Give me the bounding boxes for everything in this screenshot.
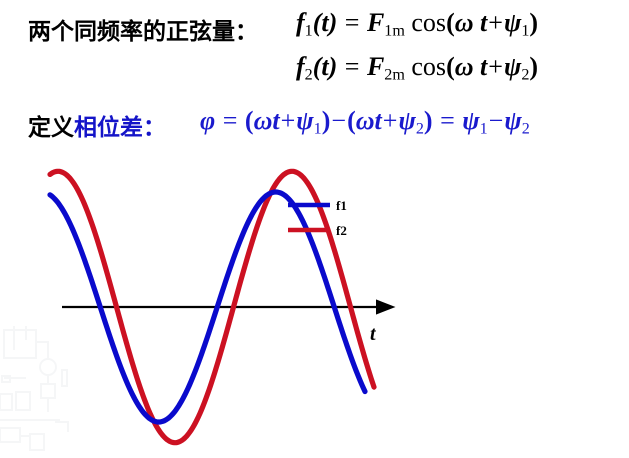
formula-f2-plus: + bbox=[487, 52, 504, 81]
formula-f2-open: ( bbox=[446, 52, 455, 81]
phase-minus-1: − bbox=[330, 106, 347, 135]
formula-f2-arg: (t) bbox=[313, 52, 338, 81]
formula-f1-f: f bbox=[296, 8, 305, 37]
chart-legend: f1 f2 bbox=[288, 198, 347, 238]
phase-plus-2: + bbox=[382, 106, 399, 135]
x-axis-label: t bbox=[370, 323, 377, 345]
phase-t-2: t bbox=[375, 106, 382, 135]
phase-psi-2: ψ bbox=[398, 106, 415, 135]
formula-f2: f2(t) = F2m cos(ω t+ψ2) bbox=[296, 52, 538, 85]
formula-f2-psi: ψ bbox=[504, 52, 521, 81]
phase-plus-1: + bbox=[280, 106, 297, 135]
formula-phase-difference: φ = (ωt+ψ1)−(ωt+ψ2) = ψ1−ψ2 bbox=[200, 106, 530, 139]
phase-omega-2: ω bbox=[356, 106, 375, 135]
formula-f1-psi: ψ bbox=[504, 8, 521, 37]
phase-eq-2: = bbox=[439, 106, 456, 135]
intro-label: 两个同频率的正弦量： bbox=[28, 12, 258, 46]
formula-f2-amp-sub: 2m bbox=[384, 67, 405, 84]
definition-prefix: 定义 bbox=[28, 115, 74, 141]
formula-f1-amp: F bbox=[367, 8, 384, 37]
phase-psi-2-sub: 2 bbox=[416, 121, 424, 138]
formula-f2-index: 2 bbox=[305, 67, 313, 84]
phase-result-psi-2-sub: 2 bbox=[522, 121, 530, 138]
legend-label-f2: f2 bbox=[336, 223, 347, 238]
phase-result-minus: − bbox=[488, 106, 505, 135]
formula-text-block: 两个同频率的正弦量： f1(t) = F1m cos(ω t+ψ1) f2(t)… bbox=[0, 0, 629, 160]
phase-close-2: ) bbox=[424, 106, 433, 135]
slide-canvas: 两个同频率的正弦量： f1(t) = F1m cos(ω t+ψ1) f2(t)… bbox=[0, 0, 629, 458]
formula-f1: f1(t) = F1m cos(ω t+ψ1) bbox=[296, 8, 538, 41]
formula-f1-omega: ω bbox=[455, 8, 474, 37]
formula-f2-omega: ω bbox=[455, 52, 474, 81]
formula-f1-open: ( bbox=[446, 8, 455, 37]
phase-phi: φ bbox=[200, 106, 215, 135]
phase-result-psi-2: ψ bbox=[504, 106, 521, 135]
phase-result-psi-1-sub: 1 bbox=[480, 121, 488, 138]
phase-psi-1: ψ bbox=[296, 106, 313, 135]
phase-omega-1: ω bbox=[254, 106, 273, 135]
formula-f2-f: f bbox=[296, 52, 305, 81]
phase-open-1: ( bbox=[245, 106, 254, 135]
formula-f1-arg: (t) bbox=[313, 8, 338, 37]
phase-result-psi-1: ψ bbox=[462, 106, 479, 135]
waveform-chart: t f1 f2 bbox=[0, 160, 629, 458]
formula-f2-amp: F bbox=[367, 52, 384, 81]
formula-f1-eq: = bbox=[344, 8, 361, 37]
definition-label: 定义相位差： bbox=[28, 108, 166, 142]
formula-f1-close: ) bbox=[529, 8, 538, 37]
formula-f1-index: 1 bbox=[305, 23, 313, 40]
phase-t-1: t bbox=[272, 106, 279, 135]
formula-f2-close: ) bbox=[529, 52, 538, 81]
legend-label-f1: f1 bbox=[336, 198, 347, 213]
phase-psi-1-sub: 1 bbox=[314, 121, 322, 138]
definition-term: 相位差： bbox=[74, 115, 166, 141]
phase-eq: = bbox=[222, 106, 239, 135]
formula-f1-plus: + bbox=[487, 8, 504, 37]
formula-f1-amp-sub: 1m bbox=[384, 23, 405, 40]
phase-open-2: ( bbox=[347, 106, 356, 135]
formula-f1-cos: cos bbox=[411, 8, 446, 37]
formula-f2-eq: = bbox=[344, 52, 361, 81]
formula-f2-cos: cos bbox=[411, 52, 446, 81]
